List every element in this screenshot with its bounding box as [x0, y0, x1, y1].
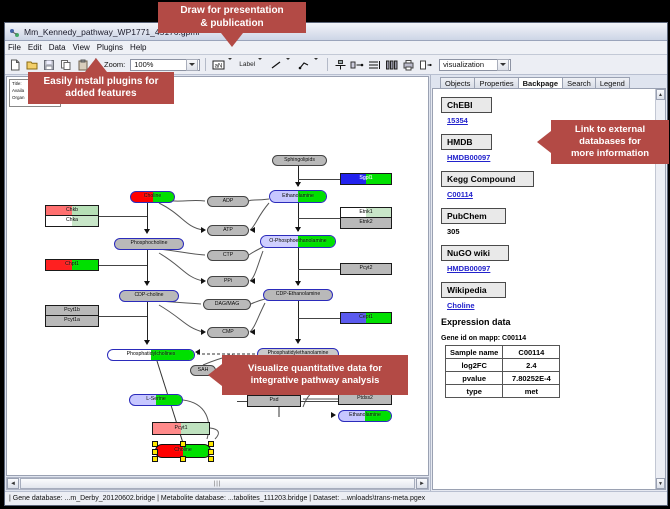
gene-id-line: Gene id on mapp: C00114 [441, 335, 647, 342]
metabolite-node[interactable]: L-Serine [129, 394, 183, 406]
node-label: ATP [223, 228, 233, 233]
menu-item-view[interactable]: View [73, 43, 90, 52]
edge-choline-phosphocholine [147, 203, 148, 230]
node-label: Chpt1 [65, 262, 79, 267]
db-header-hmdb: HMDB [441, 134, 492, 150]
tab-legend[interactable]: Legend [595, 77, 630, 88]
toolbar-separator-3 [327, 58, 328, 71]
arrowhead-ptdcholine [144, 340, 150, 345]
callout-draw-line1: Draw for presentation [180, 5, 283, 18]
table-cell-value: C00114 [503, 346, 560, 359]
callout-plugins: Easily install plugins for added feature… [28, 72, 174, 104]
gene-node[interactable]: Pcyt1 [152, 422, 210, 435]
scroll-up-icon[interactable]: ▲ [656, 89, 665, 100]
metabolite-node[interactable]: Ethanolamine [338, 410, 392, 422]
connector-pcyt1 [99, 316, 147, 317]
expression-table: Sample name C00114 log2FC 2.4 pvalue 7.8… [445, 345, 560, 398]
table-row: log2FC 2.4 [446, 359, 560, 372]
line-dropdown-icon[interactable] [286, 60, 294, 69]
tab-objects[interactable]: Objects [440, 77, 475, 88]
db-value-pubchem: 305 [447, 227, 647, 236]
arrowhead-cdpcholine [144, 281, 150, 286]
node-label: DAG/MAG [215, 302, 240, 307]
window-title-bar: Mm_Kennedy_pathway_WP1771_45176.gpml [5, 23, 667, 41]
metabolite-node[interactable]: Sphingolipids [272, 155, 327, 166]
tab-search[interactable]: Search [562, 77, 596, 88]
node-label: Phosphocholine [131, 241, 168, 246]
table-cell-key: log2FC [446, 359, 503, 372]
selection-handle[interactable] [152, 449, 158, 455]
visualization-chevron-icon[interactable] [497, 59, 509, 71]
node-label: Sphingolipids [284, 158, 315, 163]
node-label: Pcyt1a [64, 318, 80, 323]
label-dropdown-icon[interactable] [258, 60, 266, 69]
zoom-value: 100% [134, 60, 186, 69]
db-header-nugowiki: NuGO wiki [441, 245, 509, 261]
table-cell-key: Sample name [446, 346, 503, 359]
menu-item-help[interactable]: Help [130, 43, 146, 52]
status-text: | Gene database: ...m_Derby_20120602.bri… [9, 495, 425, 502]
callout-visualize-pointer [208, 364, 222, 386]
callout-databases-line2: databases for [579, 136, 641, 148]
scroll-thumb[interactable]: ||| [20, 478, 415, 489]
db-link-nugowiki[interactable]: HMDB00097 [447, 264, 647, 273]
arrowhead-phosphocholine [144, 229, 150, 234]
metabolite-node[interactable]: Ethanolamine [269, 190, 327, 203]
menu-bar: File Edit Data View Plugins Help [5, 41, 667, 55]
selection-handle[interactable] [208, 456, 214, 462]
metabolite-node[interactable]: DAG/MAG [203, 299, 251, 310]
gene-node[interactable]: Etnk2 [340, 218, 392, 229]
table-row: pvalue 7.80252E-4 [446, 372, 560, 385]
expression-data-heading: Expression data [441, 317, 647, 327]
align-icon[interactable] [333, 58, 347, 72]
metabolite-node[interactable]: CTP [207, 250, 249, 261]
gene-node[interactable]: Chka [45, 216, 99, 227]
node-label: Etnk2 [359, 220, 372, 225]
gene-node[interactable]: Sgpl1 [340, 173, 392, 185]
print-icon[interactable] [401, 58, 415, 72]
node-label: Pcyt2 [360, 266, 373, 271]
selection-handle[interactable] [180, 456, 186, 462]
node-label: CDP-choline [134, 293, 163, 298]
arrowhead-ethanolamine-right [331, 412, 336, 418]
arrowhead-ppi-right [250, 278, 255, 284]
node-label: Choline [174, 448, 192, 453]
node-label: Ptdss2 [357, 396, 373, 401]
toolbar-separator-2 [205, 58, 206, 71]
node-label: PPi [224, 279, 232, 284]
arrowhead-ppi [201, 278, 206, 284]
node-label: Etnk1 [359, 210, 372, 215]
selection-handle[interactable] [180, 441, 186, 447]
edge-pethanolamine-cdpethanolamine [298, 248, 299, 285]
svg-text:aN: aN [214, 63, 222, 69]
order-icon[interactable] [350, 58, 364, 72]
menu-item-plugins[interactable]: Plugins [97, 43, 123, 52]
callout-databases: Link to external databases for more info… [551, 120, 669, 164]
arrowhead-cmp-right [250, 329, 255, 335]
table-row: Sample name C00114 [446, 346, 560, 359]
chevron-down-icon[interactable] [186, 59, 198, 71]
callout-visualize-line1: Visualize quantitative data for [248, 363, 382, 375]
status-bar: | Gene database: ...m_Derby_20120602.bri… [5, 491, 667, 505]
zoom-label: Zoom: [104, 60, 125, 69]
side-panel-tabs: Objects Properties Backpage Search Legen… [431, 75, 667, 88]
node-label: Pcyt1 [175, 426, 188, 431]
metabolite-node[interactable]: CDP-choline [119, 290, 179, 302]
edge-cdpcholine-ptdcholine [147, 302, 148, 341]
connector-chk [99, 216, 147, 217]
gene-node[interactable]: Chpt1 [45, 259, 99, 271]
node-label: Ethanolamine [349, 413, 381, 418]
gene-node[interactable]: Pcyt1a [45, 316, 99, 327]
new-file-icon[interactable] [8, 58, 22, 72]
arrow-dropdown-icon[interactable] [314, 60, 322, 69]
arrowhead-pethanolamine [295, 227, 301, 232]
tab-backpage[interactable]: Backpage [518, 77, 563, 88]
copy-icon[interactable] [59, 58, 73, 72]
connector-cept1 [298, 318, 340, 319]
node-label: ADP [223, 199, 234, 204]
gene-node[interactable]: Chkb [45, 205, 99, 216]
label-tool-label[interactable]: Label [239, 61, 255, 68]
selection-handle[interactable] [152, 456, 158, 462]
pathway-editor: Title: Availa Organ [5, 75, 431, 491]
connector-ptdss2 [301, 401, 339, 402]
callout-databases-line3: more information [571, 148, 649, 160]
connector-chpt1 [99, 265, 147, 266]
node-label: SAH [198, 368, 209, 373]
callout-plugins-pointer [85, 58, 107, 72]
gene-node[interactable]: Cept1 [340, 312, 392, 324]
info-icon[interactable] [418, 58, 432, 72]
distribute-icon[interactable] [384, 58, 398, 72]
connector-pcyt2 [298, 269, 340, 270]
callout-visualize: Visualize quantitative data for integrat… [222, 355, 408, 395]
connector-sgpl1 [298, 179, 340, 180]
callout-draw-pointer [221, 33, 243, 47]
stack-icon[interactable] [367, 58, 381, 72]
node-label: O-Phosphoethanolamine [269, 239, 326, 244]
metabolite-node[interactable]: ADP [207, 196, 249, 207]
edge-cdpethanolamine-ptdethanolamine [298, 301, 299, 340]
db-header-wikipedia: Wikipedia [441, 282, 506, 298]
callout-plugins-line2: added features [65, 88, 136, 101]
table-cell-key: pvalue [446, 372, 503, 385]
line-tool-icon[interactable] [269, 58, 283, 72]
node-label: Cept1 [359, 315, 373, 320]
scroll-right-icon[interactable]: ► [416, 478, 428, 489]
node-label: L-Serine [146, 397, 166, 402]
menu-item-file[interactable]: File [8, 43, 21, 52]
arrowhead-cmp [201, 329, 206, 335]
scroll-left-icon[interactable]: ◄ [7, 478, 19, 489]
visualization-combo[interactable]: visualization [439, 59, 511, 71]
node-label: Psd [270, 398, 279, 403]
scroll-down-icon[interactable]: ▼ [656, 478, 665, 489]
canvas-horizontal-scrollbar[interactable]: ◄ ||| ► [6, 477, 429, 490]
arrowhead-ethanolamine [295, 182, 301, 187]
arrowhead-atp [201, 227, 206, 233]
callout-plugins-line1: Easily install plugins for [43, 76, 158, 89]
table-cell-value: met [503, 385, 560, 398]
save-file-icon[interactable] [42, 58, 56, 72]
node-label: Phosphatidylcholines [127, 352, 176, 357]
node-label: CDP-Ethanolamine [276, 292, 320, 297]
metabolite-node[interactable]: O-Phosphoethanolamine [260, 235, 336, 248]
selection-handle[interactable] [208, 441, 214, 447]
gene-node[interactable]: Etnk1 [340, 207, 392, 218]
db-header-chebi: ChEBI [441, 97, 492, 113]
menu-item-data[interactable]: Data [49, 43, 66, 52]
connector-etnk [298, 218, 340, 219]
pathway-canvas[interactable]: Title: Availa Organ [6, 76, 429, 476]
db-header-kegg: Kegg Compound [441, 171, 534, 187]
metabolite-node[interactable]: Phosphocholine [114, 238, 184, 250]
node-label: Chkb [66, 208, 78, 213]
node-label: Pcyt1b [64, 308, 80, 313]
menu-item-edit[interactable]: Edit [28, 43, 42, 52]
node-label: CTP [223, 253, 233, 258]
app-icon [9, 26, 20, 37]
arrowhead-atp-right [250, 227, 255, 233]
screenshot-root: Mm_Kennedy_pathway_WP1771_45176.gpml Fil… [0, 0, 670, 509]
callout-draw: Draw for presentation & publication [158, 2, 306, 33]
metabolite-node[interactable]: PPi [207, 276, 249, 287]
datanode-icon[interactable]: aN [211, 58, 225, 72]
node-label: CMP [222, 330, 234, 335]
gene-node[interactable]: Pcyt1b [45, 305, 99, 316]
metabolite-node[interactable]: CMP [207, 327, 249, 338]
table-cell-key: type [446, 385, 503, 398]
gene-node[interactable]: Psd [247, 395, 301, 407]
table-row: type met [446, 385, 560, 398]
arrowhead-cdpethanolamine [295, 281, 301, 286]
node-label: Sgpl1 [359, 176, 372, 181]
db-link-wikipedia[interactable]: Choline [447, 301, 647, 310]
tab-properties[interactable]: Properties [474, 77, 518, 88]
arrowhead-pemt [195, 349, 200, 355]
metabolite-node[interactable]: Phosphatidylcholines [107, 349, 195, 361]
gene-node[interactable]: Pcyt2 [340, 263, 392, 275]
metabolite-node[interactable]: ATP [207, 225, 249, 236]
metabolite-node[interactable]: Choline [130, 191, 175, 203]
callout-visualize-line2: integrative pathway analysis [251, 375, 380, 387]
arrow-tool-icon[interactable] [297, 58, 311, 72]
zoom-combo[interactable]: 100% [130, 59, 200, 71]
visualization-value: visualization [443, 60, 497, 69]
callout-draw-line2: & publication [200, 18, 263, 31]
open-file-icon[interactable] [25, 58, 39, 72]
node-label: Choline [144, 194, 162, 199]
callout-databases-line1: Link to external [575, 124, 645, 136]
selection-handle[interactable] [208, 449, 214, 455]
node-label: Chka [66, 218, 78, 223]
arrowhead-ptdethanolamine [295, 339, 301, 344]
table-cell-value: 2.4 [503, 359, 560, 372]
metabolite-node[interactable]: CDP-Ethanolamine [263, 289, 333, 301]
db-link-kegg[interactable]: C00114 [447, 190, 647, 199]
selection-handle[interactable] [152, 441, 158, 447]
db-header-pubchem: PubChem [441, 208, 506, 224]
datanode-dropdown-icon[interactable] [228, 60, 236, 69]
table-cell-value: 7.80252E-4 [503, 372, 560, 385]
callout-databases-pointer [537, 131, 551, 153]
edge-phosphocholine-cdpcholine [147, 250, 148, 282]
node-label: Ethanolamine [282, 194, 314, 199]
